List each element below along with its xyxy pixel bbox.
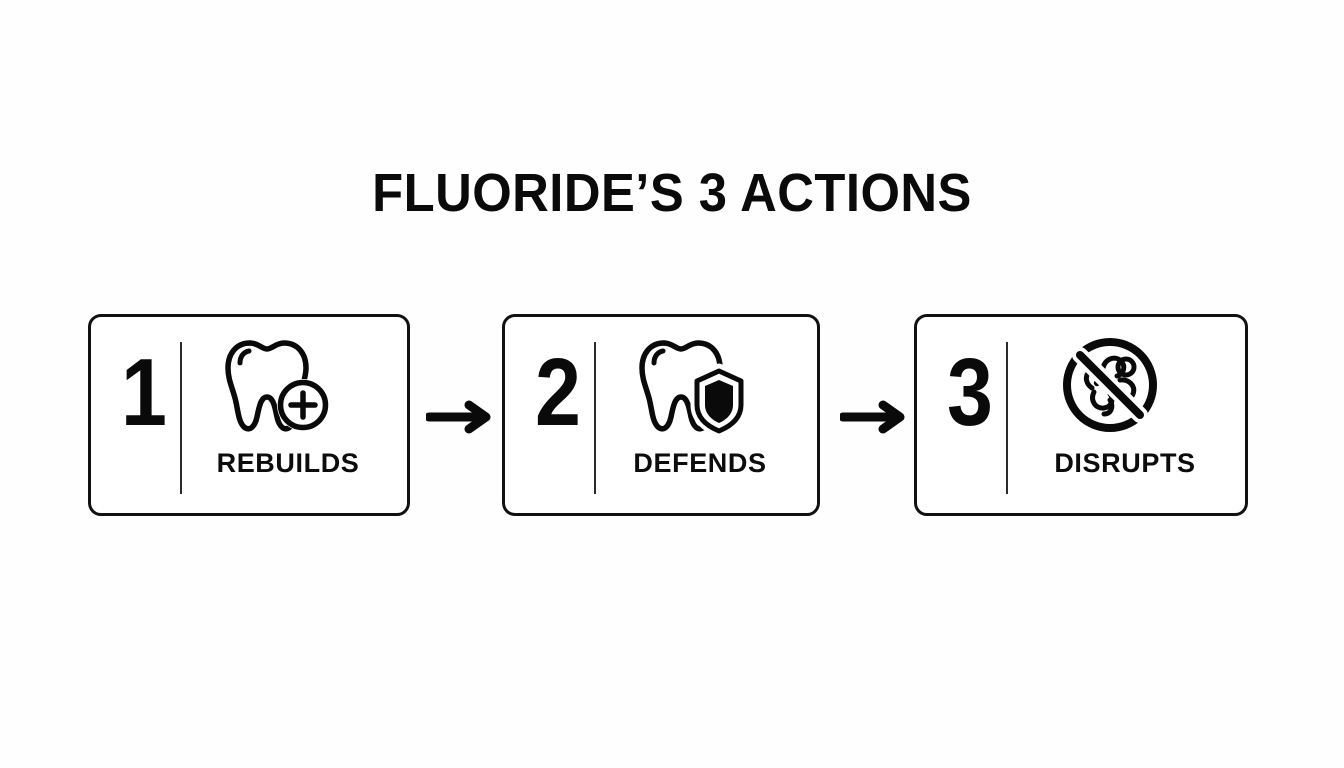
arrow-right-icon <box>840 400 906 434</box>
step-number-3: 3 <box>940 345 1000 441</box>
step-label-disrupts: DISRUPTS <box>1013 447 1237 479</box>
step-card-content: 3 <box>917 317 1245 513</box>
step-number-1: 1 <box>114 345 174 441</box>
step-card-disrupts[interactable]: 3 <box>914 314 1248 516</box>
tooth-plus-icon <box>201 333 351 437</box>
step-card-rebuilds[interactable]: 1 REBUILDS <box>88 314 410 516</box>
step-label-defends: DEFENDS <box>591 447 809 479</box>
infographic-canvas: FLUORIDE’S 3 ACTIONS 1 <box>0 0 1344 768</box>
step-card-content: 2 DEFENDS <box>505 317 817 513</box>
step-label-rebuilds: REBUILDS <box>177 447 399 479</box>
step-number-2: 2 <box>528 345 588 441</box>
step-divider <box>1006 342 1008 494</box>
step-card-content: 1 REBUILDS <box>91 317 407 513</box>
page-title: FLUORIDE’S 3 ACTIONS <box>40 163 1303 223</box>
arrow-right-icon <box>426 400 492 434</box>
steps-strip: 1 REBUILDS <box>88 314 1248 518</box>
no-bacteria-icon <box>1035 333 1185 437</box>
tooth-shield-icon <box>615 333 765 437</box>
step-card-defends[interactable]: 2 DEFENDS <box>502 314 820 516</box>
